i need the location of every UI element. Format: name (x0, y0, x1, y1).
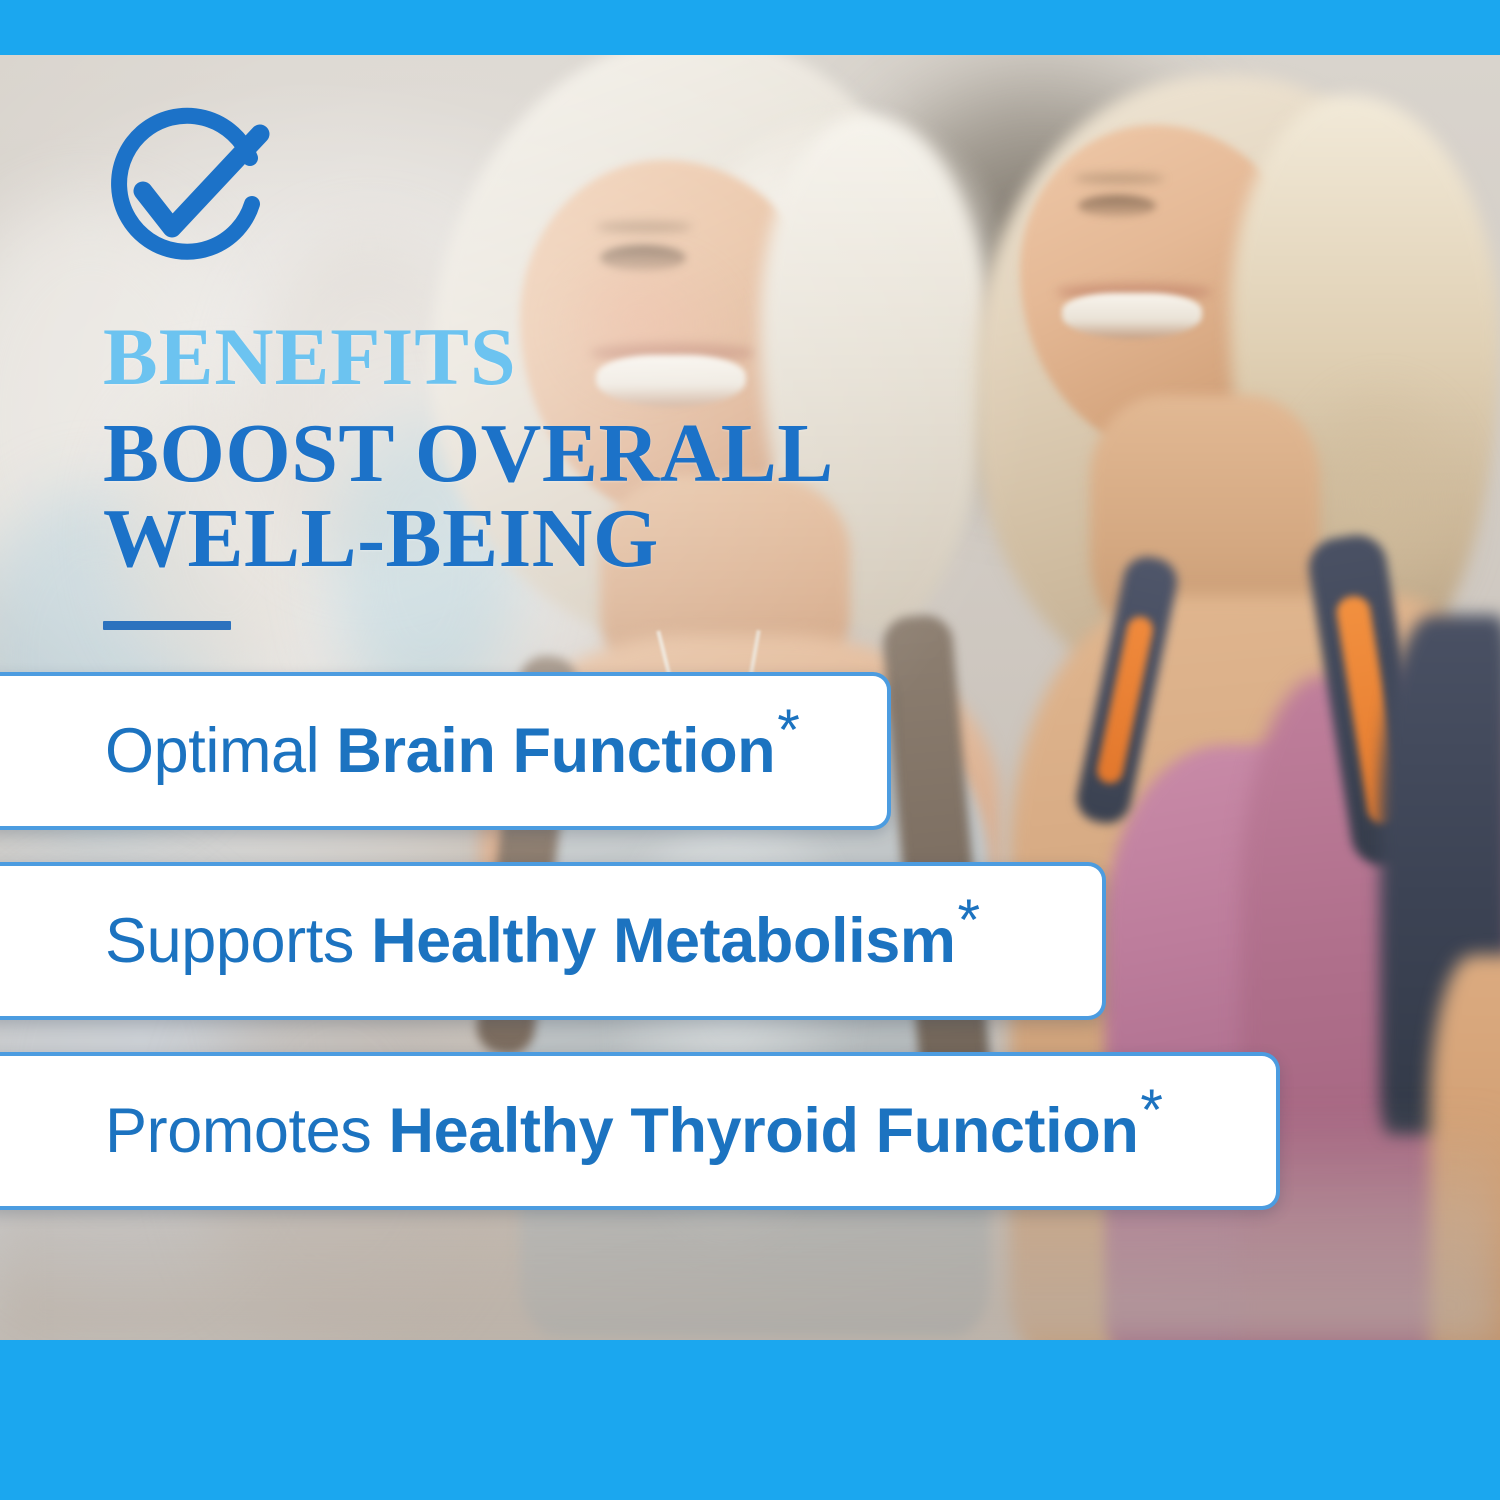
benefit-asterisk-icon: * (777, 698, 799, 763)
benefit-bar-healthy-thyroid-function: Promotes Healthy Thyroid Function* (0, 1052, 1280, 1210)
benefit-asterisk-icon: * (1140, 1078, 1162, 1143)
benefit-label-strong: Healthy Thyroid Function (389, 1096, 1139, 1166)
benefit-label-light: Promotes (105, 1096, 389, 1166)
benefit-label: Promotes Healthy Thyroid Function* (105, 1100, 1163, 1163)
benefit-asterisk-icon: * (958, 888, 980, 953)
benefit-bar-list: Optimal Brain Function* Supports Healthy… (0, 0, 1500, 1500)
infographic-canvas: BENEFITS BOOST OVERALL WELL-BEING Optima… (0, 0, 1500, 1500)
benefit-label-light: Optimal (105, 716, 336, 786)
bottom-brand-band (0, 1340, 1500, 1500)
benefit-label-strong: Brain Function (336, 716, 775, 786)
benefit-label: Optimal Brain Function* (105, 720, 799, 783)
top-brand-band (0, 0, 1500, 55)
benefit-label-light: Supports (105, 906, 371, 976)
content-layer: BENEFITS BOOST OVERALL WELL-BEING Optima… (0, 0, 1500, 1500)
benefit-label-strong: Healthy Metabolism (371, 906, 955, 976)
benefit-bar-brain-function: Optimal Brain Function* (0, 672, 891, 830)
benefit-bar-healthy-metabolism: Supports Healthy Metabolism* (0, 862, 1106, 1020)
benefit-label: Supports Healthy Metabolism* (105, 910, 980, 973)
